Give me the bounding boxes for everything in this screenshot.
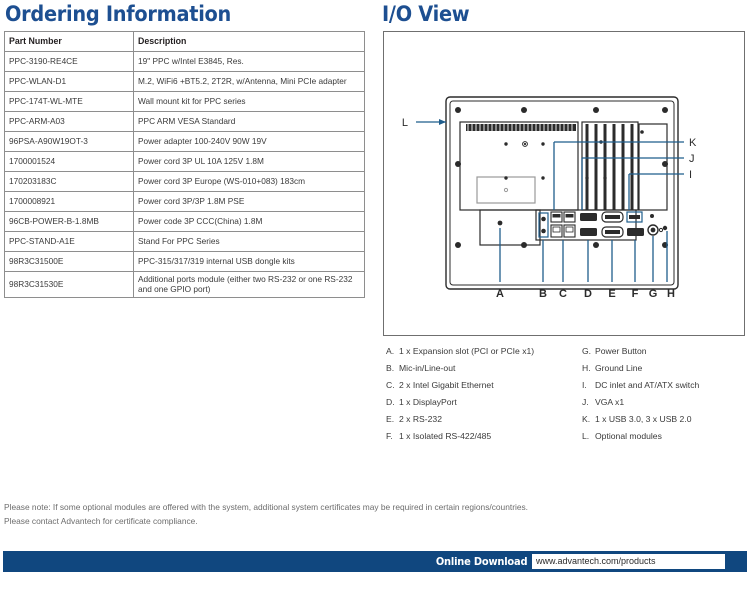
table-row: 96PSA-A90W19OT-3 Power adapter 100-240V … bbox=[5, 132, 365, 152]
io-view-heading: I/O View bbox=[382, 2, 469, 26]
callout-B: B bbox=[539, 288, 547, 300]
cell-part-number: 1700001524 bbox=[5, 152, 134, 172]
legend-item: A. 1 x Expansion slot (PCI or PCIe x1) bbox=[386, 343, 571, 360]
cell-description: Wall mount kit for PPC series bbox=[134, 92, 365, 112]
table-row: 1700008921 Power cord 3P/3P 1.8M PSE bbox=[5, 192, 365, 212]
legend-key: G. bbox=[582, 343, 595, 360]
cell-description: Power cord 3P UL 10A 125V 1.8M bbox=[134, 152, 365, 172]
callout-J: J bbox=[689, 153, 695, 165]
legend-item: H. Ground Line bbox=[582, 360, 750, 377]
legend-column-right: G. Power Button H. Ground Line I. DC inl… bbox=[582, 343, 750, 445]
io-view-diagram-frame: L K J I A B C D E F G H bbox=[383, 31, 745, 336]
table-header-row: Part Number Description bbox=[5, 32, 365, 52]
ordering-information-table: Part Number Description PPC-3190-RE4CE 1… bbox=[4, 31, 365, 298]
legend-key: H. bbox=[582, 360, 595, 377]
legend-key: A. bbox=[386, 343, 399, 360]
footer-note-line-1: Please note: If some optional modules ar… bbox=[4, 500, 744, 514]
callout-leader-lines bbox=[416, 122, 684, 282]
table-row: 98R3C31500E PPC-315/317/319 internal USB… bbox=[5, 252, 365, 272]
cell-description: 19" PPC w/Intel E3845, Res. bbox=[134, 52, 365, 72]
online-download-bar: Online Download www.advantech.com/produc… bbox=[3, 551, 747, 572]
cell-part-number: 98R3C31500E bbox=[5, 252, 134, 272]
online-download-url[interactable]: www.advantech.com/products bbox=[532, 554, 725, 569]
legend-item: F. 1 x Isolated RS-422/485 bbox=[386, 428, 571, 445]
legend-text: DC inlet and AT/ATX switch bbox=[595, 377, 699, 394]
table-row: 98R3C31530E Additional ports module (eit… bbox=[5, 272, 365, 298]
table-row: 96CB-POWER-B-1.8MB Power code 3P CCC(Chi… bbox=[5, 212, 365, 232]
footer-note: Please note: If some optional modules ar… bbox=[4, 500, 744, 528]
cell-part-number: 96PSA-A90W19OT-3 bbox=[5, 132, 134, 152]
cell-part-number: PPC-ARM-A03 bbox=[5, 112, 134, 132]
legend-text: VGA x1 bbox=[595, 394, 624, 411]
legend-item: C. 2 x Intel Gigabit Ethernet bbox=[386, 377, 571, 394]
table-row: PPC-3190-RE4CE 19" PPC w/Intel E3845, Re… bbox=[5, 52, 365, 72]
rs232-db9-connectors bbox=[602, 212, 623, 237]
displayport-connectors bbox=[580, 213, 597, 236]
legend-text: 1 x DisplayPort bbox=[399, 394, 457, 411]
table-row: PPC-STAND-A1E Stand For PPC Series bbox=[5, 232, 365, 252]
legend-text: 1 x USB 3.0, 3 x USB 2.0 bbox=[595, 411, 692, 428]
cell-part-number: 96CB-POWER-B-1.8MB bbox=[5, 212, 134, 232]
legend-text: Optional modules bbox=[595, 428, 662, 445]
legend-key: K. bbox=[582, 411, 595, 428]
table-row: 1700001524 Power cord 3P UL 10A 125V 1.8… bbox=[5, 152, 365, 172]
legend-item: L. Optional modules bbox=[582, 428, 750, 445]
legend-column-left: A. 1 x Expansion slot (PCI or PCIe x1) B… bbox=[386, 343, 571, 445]
io-view-technical-drawing: L K J I A B C D E F G H bbox=[384, 32, 744, 335]
legend-text: 2 x Intel Gigabit Ethernet bbox=[399, 377, 494, 394]
callout-A: A bbox=[496, 288, 504, 300]
legend-text: 1 x Isolated RS-422/485 bbox=[399, 428, 491, 445]
callout-I: I bbox=[689, 169, 692, 181]
cell-description: M.2, WiFi6 +BT5.2, 2T2R, w/Antenna, Mini… bbox=[134, 72, 365, 92]
cell-description: Power cord 3P Europe (WS-010+083) 183cm bbox=[134, 172, 365, 192]
datasheet-page: Ordering Information Part Number Descrip… bbox=[0, 0, 750, 591]
table-row: 170203183C Power cord 3P Europe (WS-010+… bbox=[5, 172, 365, 192]
legend-key: J. bbox=[582, 394, 595, 411]
cell-part-number: PPC-STAND-A1E bbox=[5, 232, 134, 252]
legend-item: E. 2 x RS-232 bbox=[386, 411, 571, 428]
callout-F: F bbox=[632, 288, 639, 300]
legend-text: Power Button bbox=[595, 343, 647, 360]
cell-part-number: 98R3C31530E bbox=[5, 272, 134, 298]
legend-item: G. Power Button bbox=[582, 343, 750, 360]
cell-description: Power code 3P CCC(China) 1.8M bbox=[134, 212, 365, 232]
cell-part-number: 1700008921 bbox=[5, 192, 134, 212]
online-download-label: Online Download bbox=[435, 556, 527, 568]
callout-C: C bbox=[559, 288, 567, 300]
cell-description: Stand For PPC Series bbox=[134, 232, 365, 252]
cell-description: Additional ports module (either two RS-2… bbox=[134, 272, 365, 298]
legend-item: B. Mic-in/Line-out bbox=[386, 360, 571, 377]
legend-text: Mic-in/Line-out bbox=[399, 360, 455, 377]
table-row: PPC-174T-WL-MTE Wall mount kit for PPC s… bbox=[5, 92, 365, 112]
legend-text: 2 x RS-232 bbox=[399, 411, 442, 428]
legend-item: I. DC inlet and AT/ATX switch bbox=[582, 377, 750, 394]
callout-K: K bbox=[689, 137, 697, 149]
power-button-and-ground bbox=[648, 214, 667, 235]
legend-text: Ground Line bbox=[595, 360, 642, 377]
legend-key: L. bbox=[582, 428, 595, 445]
cell-description: PPC ARM VESA Standard bbox=[134, 112, 365, 132]
cell-description: Power cord 3P/3P 1.8M PSE bbox=[134, 192, 365, 212]
cell-part-number: PPC-3190-RE4CE bbox=[5, 52, 134, 72]
column-header-description: Description bbox=[134, 32, 365, 52]
legend-key: I. bbox=[582, 377, 595, 394]
cell-part-number: PPC-174T-WL-MTE bbox=[5, 92, 134, 112]
legend-key: F. bbox=[386, 428, 399, 445]
legend-item: D. 1 x DisplayPort bbox=[386, 394, 571, 411]
cell-part-number: 170203183C bbox=[5, 172, 134, 192]
callout-H: H bbox=[667, 288, 675, 300]
vesa-hole-pattern bbox=[504, 142, 544, 180]
cell-part-number: PPC-WLAN-D1 bbox=[5, 72, 134, 92]
legend-text: 1 x Expansion slot (PCI or PCIe x1) bbox=[399, 343, 534, 360]
ordering-information-heading: Ordering Information bbox=[5, 2, 231, 26]
column-header-part-number: Part Number bbox=[5, 32, 134, 52]
cell-description: Power adapter 100-240V 90W 19V bbox=[134, 132, 365, 152]
legend-key: B. bbox=[386, 360, 399, 377]
cell-description: PPC-315/317/319 internal USB dongle kits bbox=[134, 252, 365, 272]
legend-key: C. bbox=[386, 377, 399, 394]
callout-G: G bbox=[649, 288, 658, 300]
footer-note-line-2: Please contact Advantech for certificate… bbox=[4, 514, 744, 528]
legend-item: K. 1 x USB 3.0, 3 x USB 2.0 bbox=[582, 411, 750, 428]
table-row: PPC-ARM-A03 PPC ARM VESA Standard bbox=[5, 112, 365, 132]
callout-D: D bbox=[584, 288, 592, 300]
callout-E: E bbox=[608, 288, 615, 300]
table-row: PPC-WLAN-D1 M.2, WiFi6 +BT5.2, 2T2R, w/A… bbox=[5, 72, 365, 92]
callout-L: L bbox=[402, 117, 408, 129]
usb-lan-ports bbox=[551, 212, 575, 237]
legend-key: E. bbox=[386, 411, 399, 428]
legend-item: J. VGA x1 bbox=[582, 394, 750, 411]
legend-key: D. bbox=[386, 394, 399, 411]
